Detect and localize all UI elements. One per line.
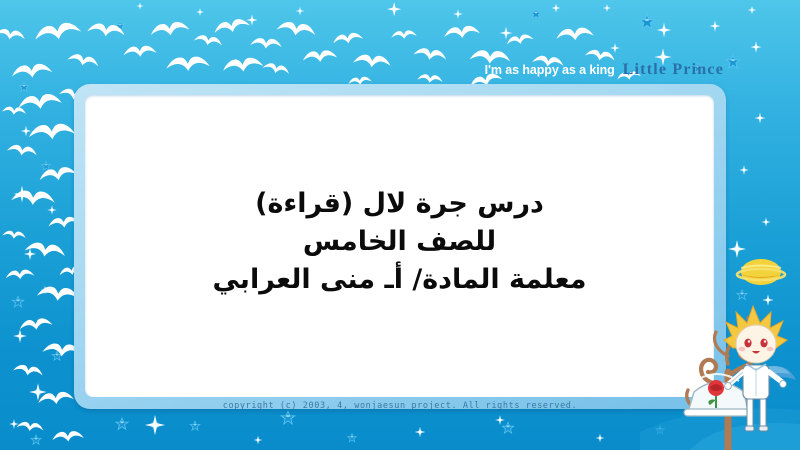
slide-title-line-3: معلمة المادة/ أـ منى العرابي — [212, 261, 586, 299]
slide-title-line-1: درس جرة لال (قراءة) — [212, 185, 586, 223]
slide-title-line-2: للصف الخامس — [212, 223, 586, 261]
brand-name: Little Prince — [623, 61, 724, 79]
presentation-slide: I'm as happy as a king Little Prince درس… — [0, 0, 800, 450]
content-frame: درس جرة لال (قراءة) للصف الخامس معلمة ال… — [74, 84, 726, 409]
little-prince-character — [724, 306, 796, 431]
tagline-text: I'm as happy as a king — [485, 63, 615, 77]
content-frame-inner: درس جرة لال (قراءة) للصف الخامس معلمة ال… — [85, 95, 714, 397]
header-tagline: I'm as happy as a king Little Prince — [485, 61, 724, 79]
slide-body-text: درس جرة لال (قراءة) للصف الخامس معلمة ال… — [186, 185, 612, 298]
